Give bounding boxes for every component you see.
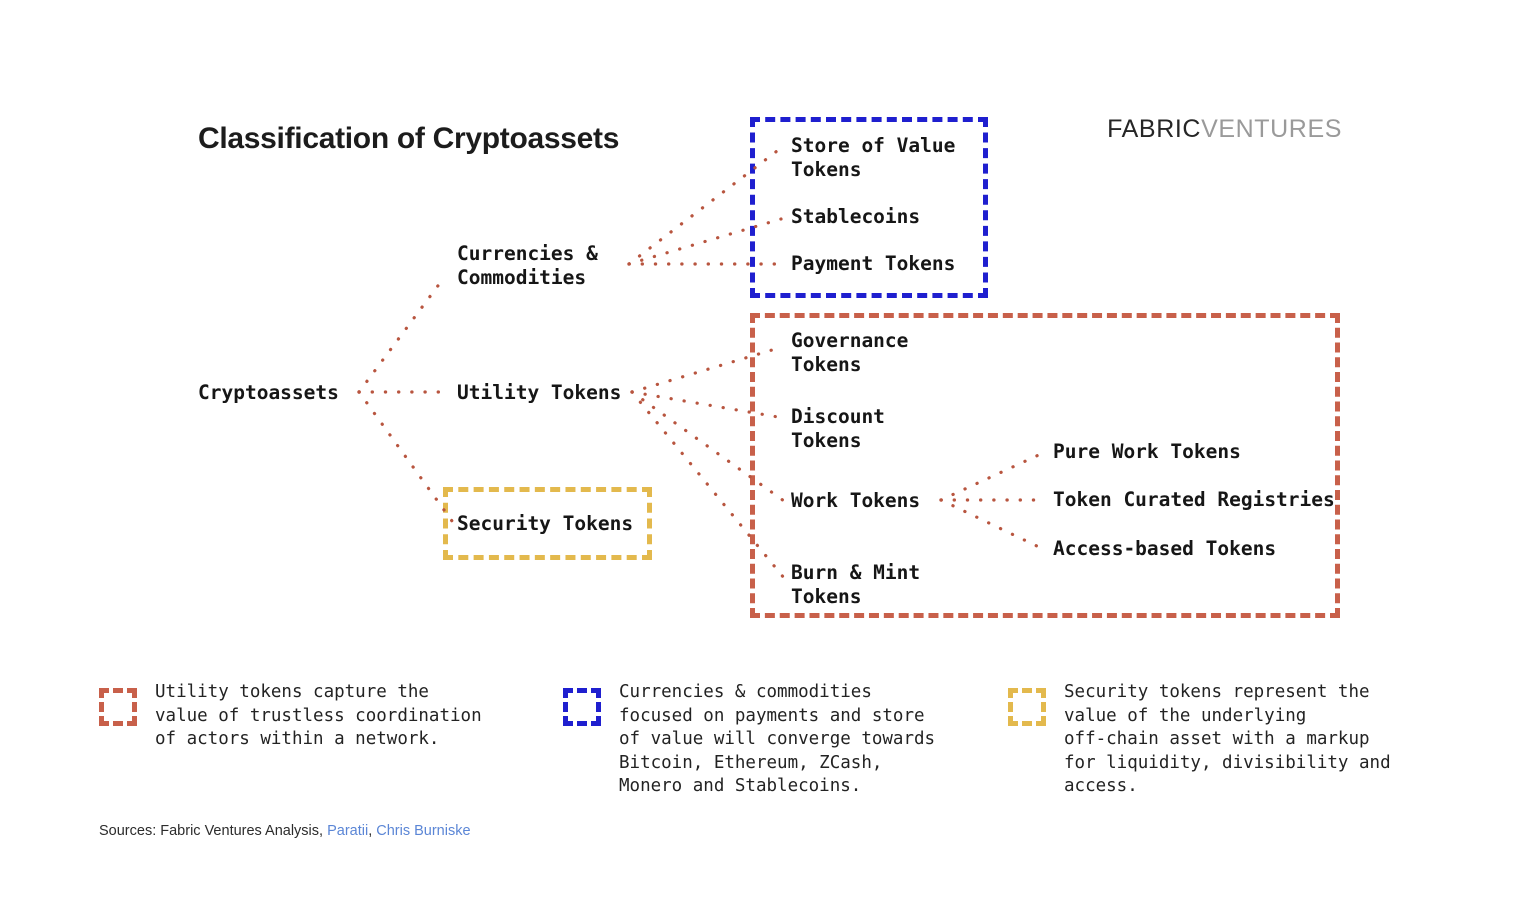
- node-pure-work-tokens[interactable]: Pure Work Tokens: [1053, 440, 1241, 464]
- legend-text-security: Security tokens represent the value of t…: [1064, 681, 1391, 799]
- node-cryptoassets[interactable]: Cryptoassets: [198, 381, 339, 405]
- node-security-tokens[interactable]: Security Tokens: [457, 512, 633, 536]
- source-link-chris-burniske[interactable]: Chris Burniske: [376, 823, 470, 839]
- node-stablecoins[interactable]: Stablecoins: [791, 205, 920, 229]
- node-payment-tokens[interactable]: Payment Tokens: [791, 252, 955, 276]
- node-access-based-tokens[interactable]: Access-based Tokens: [1053, 537, 1276, 561]
- diagram-canvas: Classification of Cryptoassets FABRICVEN…: [0, 0, 1528, 918]
- node-utility-tokens[interactable]: Utility Tokens: [457, 381, 621, 405]
- legend-text-utility: Utility tokens capture the value of trus…: [155, 681, 482, 752]
- node-work-tokens[interactable]: Work Tokens: [791, 489, 920, 513]
- legend-item-currencies: Currencies & commodities focused on paym…: [563, 681, 935, 799]
- node-store-of-value-tokens[interactable]: Store of Value Tokens: [791, 134, 955, 181]
- brand-logo: FABRICVENTURES: [1107, 115, 1342, 144]
- node-discount-tokens[interactable]: Discount Tokens: [791, 405, 885, 452]
- legend-item-utility: Utility tokens capture the value of trus…: [99, 681, 482, 752]
- wire-root-to-security: [359, 392, 452, 521]
- sources-line: Sources: Fabric Ventures Analysis, Parat…: [99, 823, 471, 839]
- node-burn-and-mint-tokens[interactable]: Burn & Mint Tokens: [791, 561, 920, 608]
- brand-logo-secondary: VENTURES: [1201, 115, 1342, 143]
- wire-root-to-currencies: [359, 279, 443, 392]
- legend-swatch-security-icon: [1008, 688, 1046, 726]
- legend-swatch-utility-icon: [99, 688, 137, 726]
- sources-prefix: Sources: Fabric Ventures Analysis,: [99, 823, 327, 839]
- node-governance-tokens[interactable]: Governance Tokens: [791, 329, 908, 376]
- legend-item-security: Security tokens represent the value of t…: [1008, 681, 1391, 799]
- brand-logo-primary: FABRIC: [1107, 115, 1201, 143]
- page-title: Classification of Cryptoassets: [198, 122, 619, 156]
- legend-swatch-currencies-icon: [563, 688, 601, 726]
- source-link-paratii[interactable]: Paratii: [327, 823, 368, 839]
- node-currencies-commodities[interactable]: Currencies & Commodities: [457, 242, 598, 289]
- legend-text-currencies: Currencies & commodities focused on paym…: [619, 681, 935, 799]
- node-token-curated-registries[interactable]: Token Curated Registries: [1053, 488, 1335, 512]
